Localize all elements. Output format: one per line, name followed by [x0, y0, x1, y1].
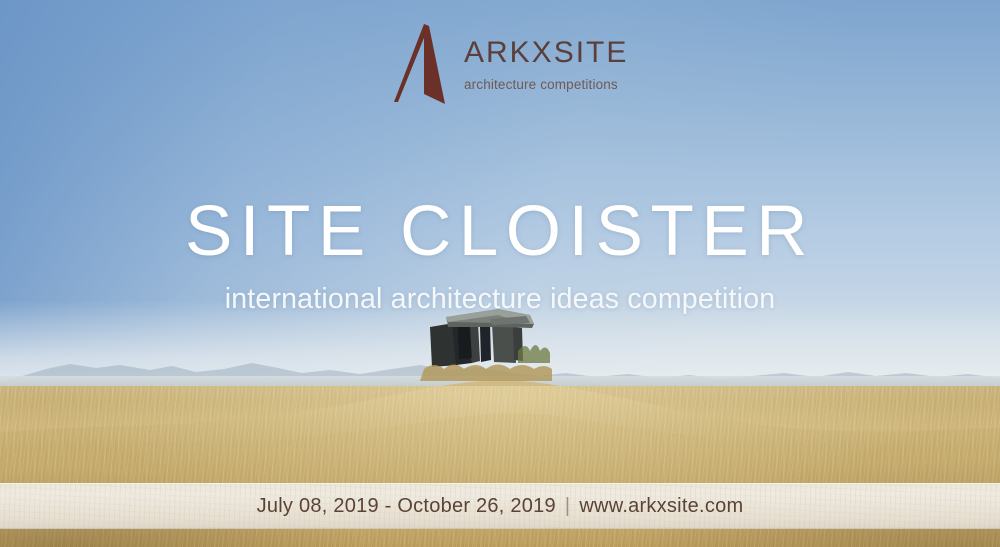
competition-website-link[interactable]: www.arkxsite.com	[579, 495, 743, 518]
competition-subtitle: international architecture ideas competi…	[0, 285, 1000, 314]
footer-info-bar: July 08, 2019 - October 26, 2019 | www.a…	[0, 483, 1000, 529]
competition-poster: ARKXSITE architecture competitions SITE …	[0, 0, 1000, 547]
headline-block: SITE CLOISTER international architecture…	[0, 196, 1000, 314]
footer-separator: |	[565, 495, 570, 518]
competition-date-range: July 08, 2019 - October 26, 2019	[257, 495, 556, 518]
footer-text-group: July 08, 2019 - October 26, 2019 | www.a…	[257, 495, 744, 518]
arkxsite-tagline: architecture competitions	[464, 77, 628, 92]
arkxsite-logo[interactable]: ARKXSITE architecture competitions	[392, 22, 628, 106]
arkxsite-logo-text: ARKXSITE architecture competitions	[464, 22, 628, 92]
arkxsite-a-mark-icon	[392, 22, 454, 106]
arkxsite-wordmark: ARKXSITE	[464, 38, 628, 68]
competition-title: SITE CLOISTER	[0, 196, 1000, 267]
